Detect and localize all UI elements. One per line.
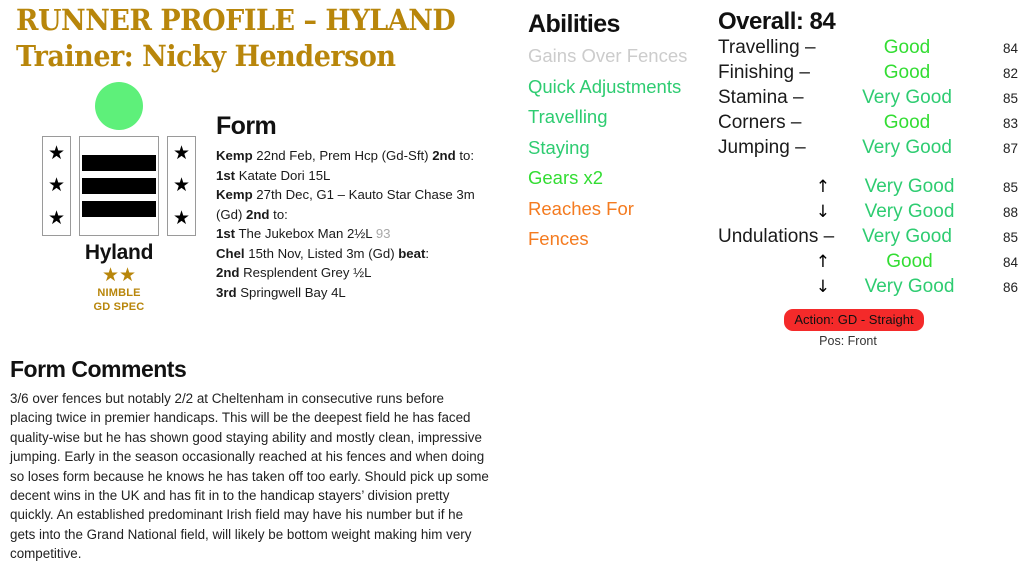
- form-entry: 2nd Resplendent Grey ½L: [216, 263, 506, 283]
- form-entry-detail: Katate Dori 15L: [235, 168, 330, 183]
- silks-graphic: ★ ★ ★ ★ ★ ★: [28, 136, 210, 236]
- left-sleeve-icon: ★ ★ ★: [42, 136, 71, 236]
- trait-tag-nimble: NIMBLE: [28, 286, 210, 300]
- status-badge[interactable]: Action: GD - Straight: [784, 309, 923, 331]
- form-title: Form: [216, 112, 506, 141]
- going-attribute-rows: ↑Very Good85↓Very Good88Undulations –Ver…: [718, 176, 1018, 301]
- form-entry-detail: 27th Dec, G1 – Kauto Star Chase 3m: [253, 187, 475, 202]
- form-entry: (Gd) 2nd to:: [216, 205, 506, 225]
- form-entry-key: 3rd: [216, 285, 237, 300]
- attribute-value: Good: [830, 62, 984, 84]
- attribute-row: Jumping –Very Good87: [718, 137, 1018, 162]
- form-entry-key: Kemp: [216, 187, 253, 202]
- silk-hoop: [82, 178, 156, 194]
- ability-item-3[interactable]: Staying: [528, 133, 718, 164]
- attribute-rating: 85: [984, 230, 1018, 245]
- silk-hoop: [82, 201, 156, 217]
- ability-item-5[interactable]: Reaches For: [528, 194, 718, 225]
- form-entry-detail: (Gd): [216, 207, 246, 222]
- form-entry: 1st The Jukebox Man 2½L 93: [216, 224, 506, 244]
- form-entry: Chel 15th Nov, Listed 3m (Gd) beat:: [216, 244, 506, 264]
- form-section: Form Kemp 22nd Feb, Prem Hcp (Gd-Sft) 2n…: [216, 112, 506, 302]
- attribute-row: Travelling –Good84: [718, 37, 1018, 62]
- ability-item-6[interactable]: Fences: [528, 224, 718, 255]
- attribute-row: Corners –Good83: [718, 112, 1018, 137]
- abilities-list: Gains Over FencesQuick AdjustmentsTravel…: [528, 41, 718, 255]
- attribute-value: Good: [830, 112, 984, 134]
- form-entry-key: 1st: [216, 226, 235, 241]
- attribute-value: Good: [835, 251, 984, 273]
- attribute-label: Stamina –: [718, 87, 830, 109]
- form-comments-title: Form Comments: [10, 356, 490, 383]
- form-entry: Kemp 27th Dec, G1 – Kauto Star Chase 3m: [216, 185, 506, 205]
- form-entry-detail: Resplendent Grey ½L: [239, 265, 371, 280]
- attribute-row: ↓Very Good86: [718, 276, 1018, 301]
- form-entry-key: Chel: [216, 246, 245, 261]
- abilities-section: Abilities Gains Over FencesQuick Adjustm…: [528, 10, 718, 255]
- action-badge-wrap: Action: GD - Straight: [718, 309, 1018, 331]
- attribute-value: Very Good: [835, 176, 984, 198]
- row-spacer: [718, 162, 1018, 176]
- page-title: RUNNER PROFILE – HYLAND: [16, 2, 481, 38]
- arrow-up-icon: ↑: [718, 177, 835, 197]
- form-entry-key: 1st: [216, 168, 235, 183]
- attribute-rows: Travelling –Good84Finishing –Good82Stami…: [718, 37, 1018, 162]
- form-entry-list: Kemp 22nd Feb, Prem Hcp (Gd-Sft) 2nd to:…: [216, 146, 506, 302]
- attribute-row: ↑Good84: [718, 251, 1018, 276]
- form-entry-detail: Springwell Bay 4L: [237, 285, 346, 300]
- attribute-rating: 85: [984, 180, 1018, 195]
- star-icon: ★: [48, 176, 65, 195]
- form-entry-detail: 15th Nov, Listed 3m (Gd): [245, 246, 399, 261]
- form-entry-suffix: :: [425, 246, 429, 261]
- star-icon: ★: [48, 209, 65, 228]
- ability-item-2[interactable]: Travelling: [528, 102, 718, 133]
- star-icon: ★: [173, 144, 190, 163]
- form-entry-key: Kemp: [216, 148, 253, 163]
- attribute-rating: 87: [984, 141, 1018, 156]
- attribute-row: ↑Very Good85: [718, 176, 1018, 201]
- form-entry-detail: 22nd Feb, Prem Hcp (Gd-Sft): [253, 148, 433, 163]
- attribute-rating: 84: [984, 41, 1018, 56]
- attribute-row: Stamina –Very Good85: [718, 87, 1018, 112]
- attribute-label: Jumping –: [718, 137, 830, 159]
- arrow-down-icon: ↓: [718, 202, 835, 222]
- jockey-cap-icon: [95, 82, 143, 130]
- right-sleeve-icon: ★ ★ ★: [167, 136, 196, 236]
- ability-item-1[interactable]: Quick Adjustments: [528, 72, 718, 103]
- attribute-row: Finishing –Good82: [718, 62, 1018, 87]
- attribute-value: Good: [830, 37, 984, 59]
- star-icon: ★: [48, 144, 65, 163]
- form-comments-section: Form Comments 3/6 over fences but notabl…: [10, 356, 490, 564]
- form-entry: 1st Katate Dori 15L: [216, 166, 506, 186]
- attribute-rating: 84: [984, 255, 1018, 270]
- attribute-rating: 82: [984, 66, 1018, 81]
- silk-body-icon: [79, 136, 159, 236]
- attribute-label: Travelling –: [718, 37, 830, 59]
- profile-header: RUNNER PROFILE – HYLAND Trainer: Nicky H…: [16, 2, 516, 74]
- silk-hoop: [82, 155, 156, 171]
- attribute-value: Very Good: [835, 276, 984, 298]
- attribute-label: Undulations –: [718, 226, 830, 248]
- attribute-rating: 86: [984, 280, 1018, 295]
- form-comments-body: 3/6 over fences but notably 2/2 at Chelt…: [10, 389, 490, 564]
- ability-item-0[interactable]: Gains Over Fences: [528, 41, 718, 72]
- attribute-value: Very Good: [830, 87, 984, 109]
- form-entry: 3rd Springwell Bay 4L: [216, 283, 506, 303]
- position-label: Pos: Front: [718, 334, 1018, 348]
- horse-name: Hyland: [28, 241, 210, 265]
- silks-panel: ★ ★ ★ ★ ★ ★ Hyland ★★ NIMBLE GD SPEC: [28, 82, 210, 314]
- form-entry-suffix: to:: [456, 148, 474, 163]
- form-entry-pos: 2nd: [246, 207, 269, 222]
- form-entry-rating: 93: [376, 226, 391, 241]
- form-entry-suffix: to:: [270, 207, 288, 222]
- arrow-up-icon: ↑: [718, 252, 835, 272]
- attribute-row: Undulations –Very Good85: [718, 226, 1018, 251]
- attribute-rating: 85: [984, 91, 1018, 106]
- attribute-rating: 83: [984, 116, 1018, 131]
- arrow-down-icon: ↓: [718, 277, 835, 297]
- overall-title: Overall: 84: [718, 8, 1018, 36]
- form-entry-detail: The Jukebox Man 2½L: [235, 226, 376, 241]
- form-entry-pos: beat: [398, 246, 425, 261]
- attribute-label: Finishing –: [718, 62, 830, 84]
- attribute-value: Very Good: [835, 201, 984, 223]
- ability-item-4[interactable]: Gears x2: [528, 163, 718, 194]
- star-icon: ★: [173, 176, 190, 195]
- attribute-value: Very Good: [830, 137, 984, 159]
- attribute-rating: 88: [984, 205, 1018, 220]
- form-entry: Kemp 22nd Feb, Prem Hcp (Gd-Sft) 2nd to:: [216, 146, 506, 166]
- attribute-value: Very Good: [830, 226, 984, 248]
- abilities-title: Abilities: [528, 10, 718, 39]
- attribute-row: ↓Very Good88: [718, 201, 1018, 226]
- attribute-label: Corners –: [718, 112, 830, 134]
- form-entry-key: 2nd: [216, 265, 239, 280]
- overall-section: Overall: 84 Travelling –Good84Finishing …: [718, 8, 1018, 348]
- trainer-title: Trainer: Nicky Henderson: [16, 38, 481, 74]
- trait-tag-gd-spec: GD SPEC: [28, 300, 210, 314]
- rating-stars-icon: ★★: [28, 266, 210, 286]
- star-icon: ★: [173, 209, 190, 228]
- form-entry-pos: 2nd: [432, 148, 455, 163]
